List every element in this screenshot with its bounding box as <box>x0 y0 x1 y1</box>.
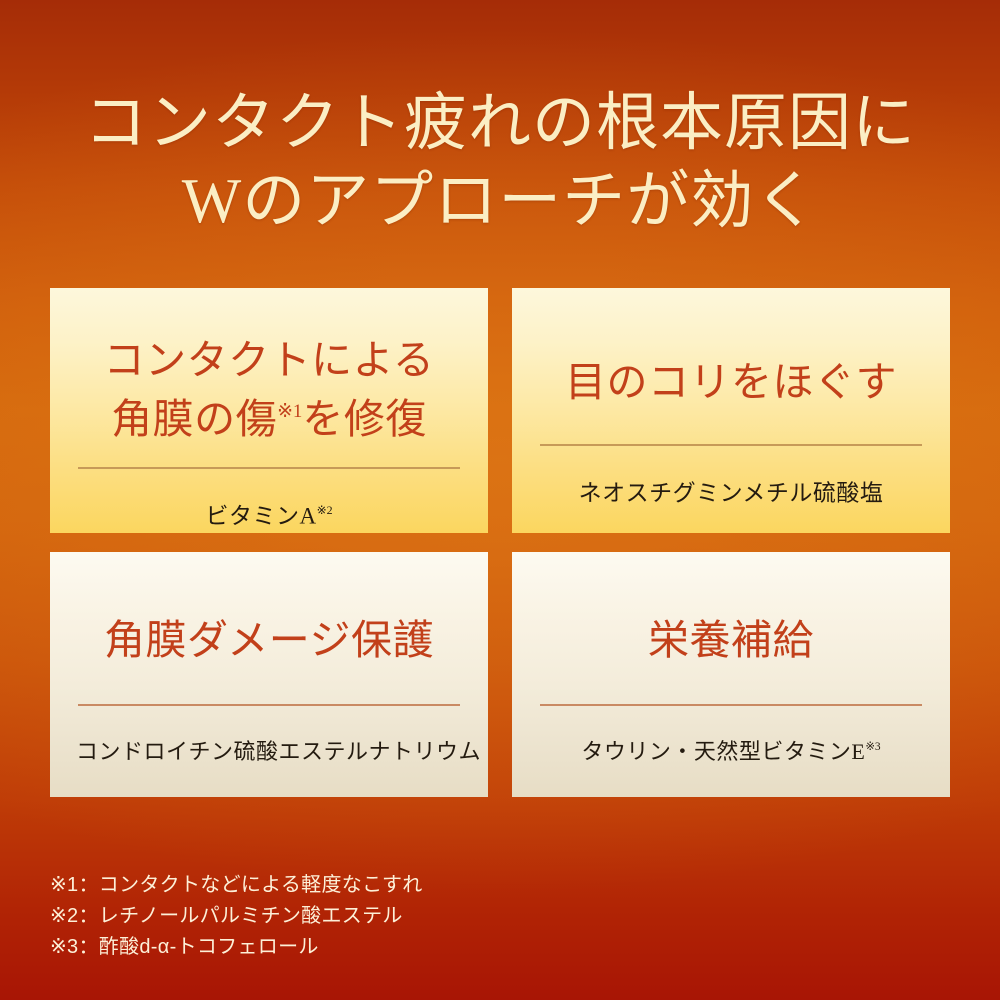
card-title-line-1: 角膜ダメージ保護 <box>76 614 462 666</box>
card-title-line-1: コンタクトによる <box>76 334 462 386</box>
headline-line-1: コンタクト疲れの根本原因に <box>0 84 1000 162</box>
card-ingredient-name: タウリン・天然型ビタミンE <box>581 739 865 764</box>
card-divider <box>78 704 460 706</box>
footnote-marker-3: ※3 <box>865 741 880 753</box>
card-ingredient-name: コンドロイチン硫酸エステルナトリウム <box>76 739 481 764</box>
benefit-card-grid: コンタクトによる 角膜の傷※1を修復 ビタミンA※2 目のコリをほぐす ネオスチ… <box>50 288 950 797</box>
card-title-line-1: 栄養補給 <box>538 614 924 666</box>
page-title: コンタクト疲れの根本原因に Wのアプローチが効く <box>0 84 1000 240</box>
card-divider <box>540 444 922 446</box>
headline-line-2: Wのアプローチが効く <box>0 162 1000 240</box>
benefit-card-damage-protection: 角膜ダメージ保護 コンドロイチン硫酸エステルナトリウム <box>50 552 488 797</box>
card-ingredient: タウリン・天然型ビタミンE※3 <box>538 732 924 767</box>
card-ingredient: ビタミンA※2 <box>76 495 462 532</box>
benefit-card-nutrition: 栄養補給 タウリン・天然型ビタミンE※3 <box>512 552 950 797</box>
card-title: 目のコリをほぐす <box>538 356 924 408</box>
card-title-line-2-text: 角膜の傷 <box>111 396 277 442</box>
card-ingredient: コンドロイチン硫酸エステルナトリウム <box>76 732 462 767</box>
card-title-line-1: 目のコリをほぐす <box>538 356 924 408</box>
footnote-list: ※1：コンタクトなどによる軽度なこすれ ※2：レチノールパルミチン酸エステル ※… <box>50 870 750 963</box>
benefit-card-corneal-repair: コンタクトによる 角膜の傷※1を修復 ビタミンA※2 <box>50 288 488 533</box>
card-title-line-2: 角膜の傷※1を修復 <box>76 386 462 445</box>
poster-canvas: コンタクト疲れの根本原因に Wのアプローチが効く コンタクトによる 角膜の傷※1… <box>0 0 1000 1000</box>
footnote-item-1: ※1：コンタクトなどによる軽度なこすれ <box>50 870 750 901</box>
card-title: 栄養補給 <box>538 614 924 666</box>
benefit-card-eye-relaxation: 目のコリをほぐす ネオスチグミンメチル硫酸塩 <box>512 288 950 533</box>
card-divider <box>540 704 922 706</box>
card-title: コンタクトによる 角膜の傷※1を修復 <box>76 334 462 445</box>
card-ingredient-name: ビタミンA <box>205 504 316 529</box>
footnote-marker-2: ※2 <box>317 503 333 517</box>
card-ingredient-name: ネオスチグミンメチル硫酸塩 <box>579 481 884 506</box>
card-ingredient: ネオスチグミンメチル硫酸塩 <box>538 472 924 509</box>
card-title: 角膜ダメージ保護 <box>76 614 462 666</box>
footnote-item-2: ※2：レチノールパルミチン酸エステル <box>50 901 750 932</box>
footnote-marker-1: ※1 <box>277 401 302 422</box>
footnote-item-3: ※3：酢酸d-α-トコフェロール <box>50 932 750 963</box>
card-divider <box>78 467 460 469</box>
card-title-line-2-suffix: を修復 <box>302 396 427 442</box>
